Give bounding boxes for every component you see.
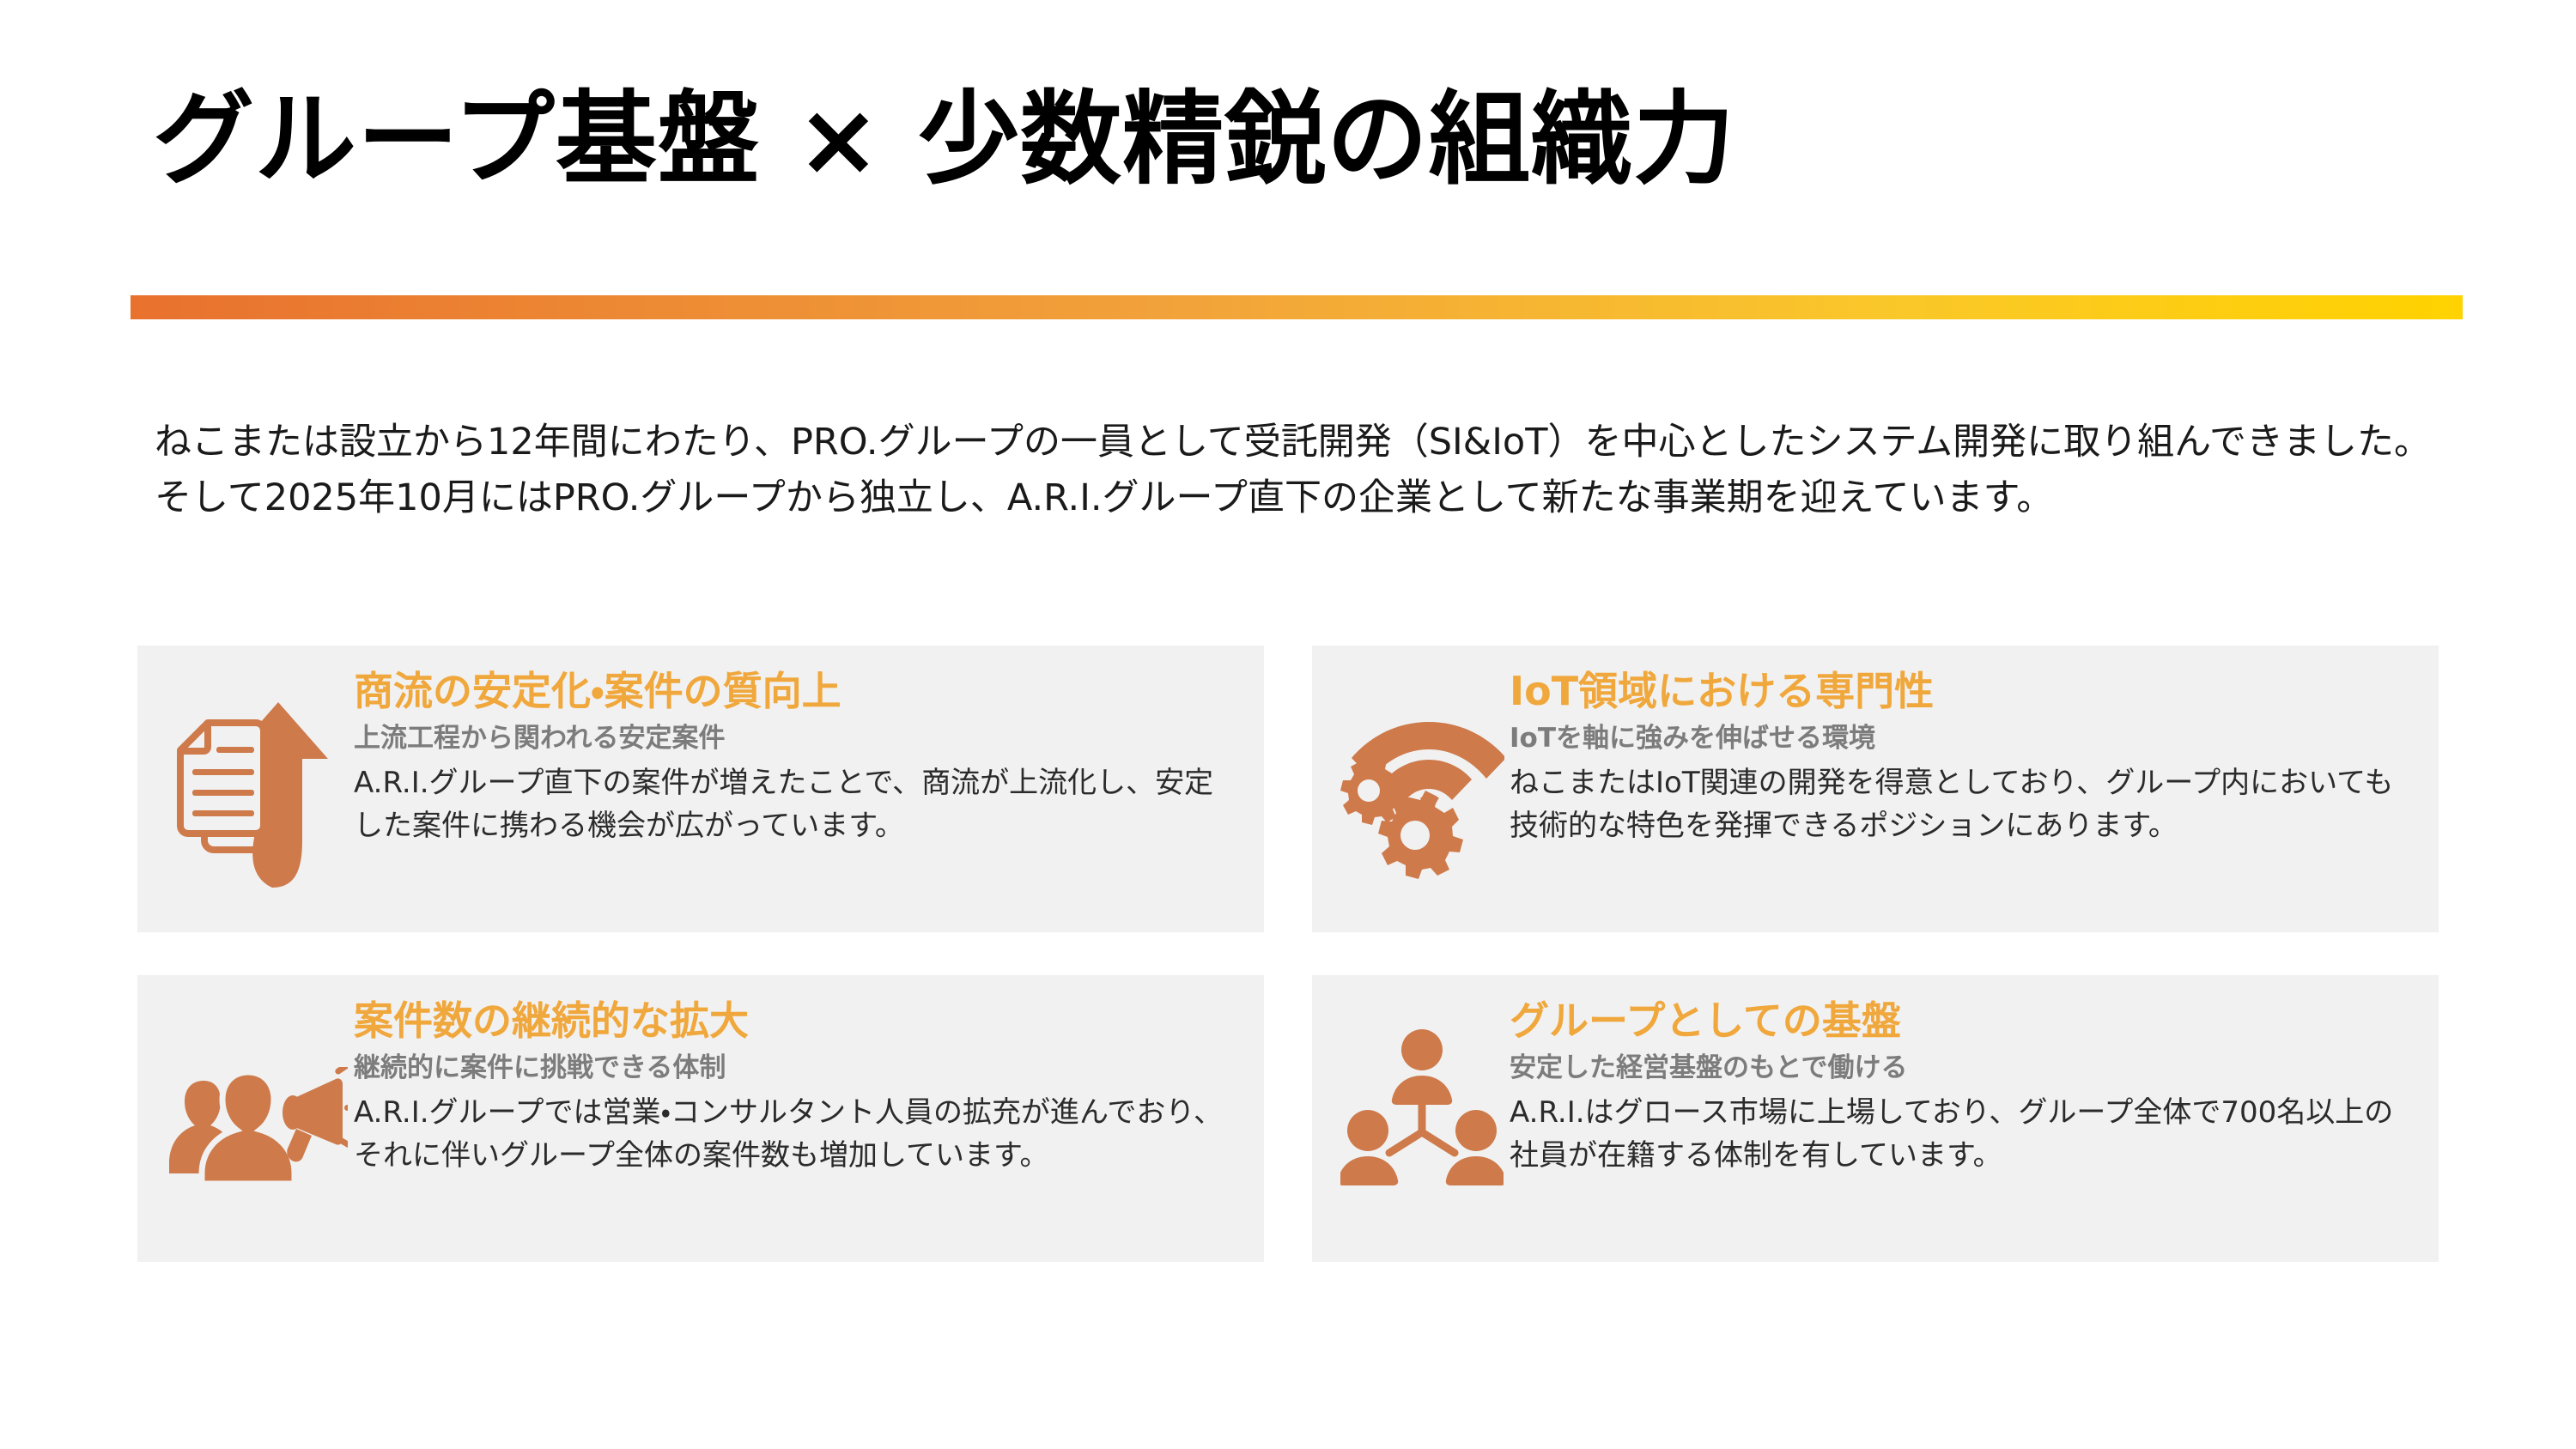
page-title: グループ基盤 × 少数精鋭の組織力 [153, 82, 1735, 196]
card-heading: IoT領域における専門性 [1510, 668, 2416, 714]
card-subheading: 安定した経営基盤のもとで働ける [1510, 1052, 2416, 1085]
card-project-growth: 案件数の継続的な拡大 継続的に案件に挑戦できる体制 A.R.I.グループでは営業… [137, 975, 1264, 1262]
card-group-foundation: グループとしての基盤 安定した経営基盤のもとで働ける A.R.I.はグロース市場… [1312, 975, 2439, 1262]
org-network-glyph [1340, 1026, 1504, 1194]
gradient-bar-icon [131, 295, 2463, 319]
wifi-gears-glyph [1340, 708, 1504, 880]
lead-paragraph: ねこまたは設立から12年間にわたり、PRO.グループの一員として受託開発（SI&… [155, 415, 2444, 527]
card-text: A.R.I.はグロース市場に上場しており、グループ全体で700名以上の社員が在籍… [1510, 1092, 2416, 1177]
card-body: 商流の安定化・案件の質向上 上流工程から関われる安定案件 A.R.I.グループ直… [350, 664, 1242, 847]
wifi-gears-icon [1338, 687, 1506, 901]
card-subheading: 上流工程から関われる安定案件 [354, 723, 1242, 755]
org-network-icon [1338, 1003, 1506, 1217]
card-business-flow: 商流の安定化・案件の質向上 上流工程から関われる安定案件 A.R.I.グループ直… [137, 646, 1264, 932]
card-text: A.R.I.グループでは営業・コンサルタント人員の拡充が進んでおり、それに伴いグ… [354, 1092, 1242, 1177]
card-body: IoT領域における専門性 IoTを軸に強みを伸ばせる環境 ねこまたはIoT関連の… [1506, 664, 2416, 847]
people-megaphone-glyph [166, 1067, 348, 1204]
title-gradient-rule [131, 295, 2463, 319]
card-text: A.R.I.グループ直下の案件が増えたことで、商流が上流化し、安定した案件に携わ… [354, 762, 1242, 847]
documents-up-arrow-icon [163, 687, 350, 901]
people-megaphone-icon [163, 1028, 350, 1243]
card-subheading: 継続的に案件に挑戦できる体制 [354, 1052, 1242, 1085]
card-body: グループとしての基盤 安定した経営基盤のもとで働ける A.R.I.はグロース市場… [1506, 994, 2416, 1177]
documents-up-arrow-glyph [168, 695, 345, 893]
card-heading: 案件数の継続的な拡大 [354, 997, 1242, 1044]
card-iot-expertise: IoT領域における専門性 IoTを軸に強みを伸ばせる環境 ねこまたはIoT関連の… [1312, 646, 2439, 932]
card-subheading: IoTを軸に強みを伸ばせる環境 [1510, 723, 2416, 755]
benefit-card-grid: 商流の安定化・案件の質向上 上流工程から関われる安定案件 A.R.I.グループ直… [137, 646, 2439, 1262]
card-heading: グループとしての基盤 [1510, 997, 2416, 1044]
card-body: 案件数の継続的な拡大 継続的に案件に挑戦できる体制 A.R.I.グループでは営業… [350, 994, 1242, 1177]
card-heading: 商流の安定化・案件の質向上 [354, 668, 1242, 714]
card-text: ねこまたはIoT関連の開発を得意としており、グループ内においても技術的な特色を発… [1510, 762, 2416, 847]
